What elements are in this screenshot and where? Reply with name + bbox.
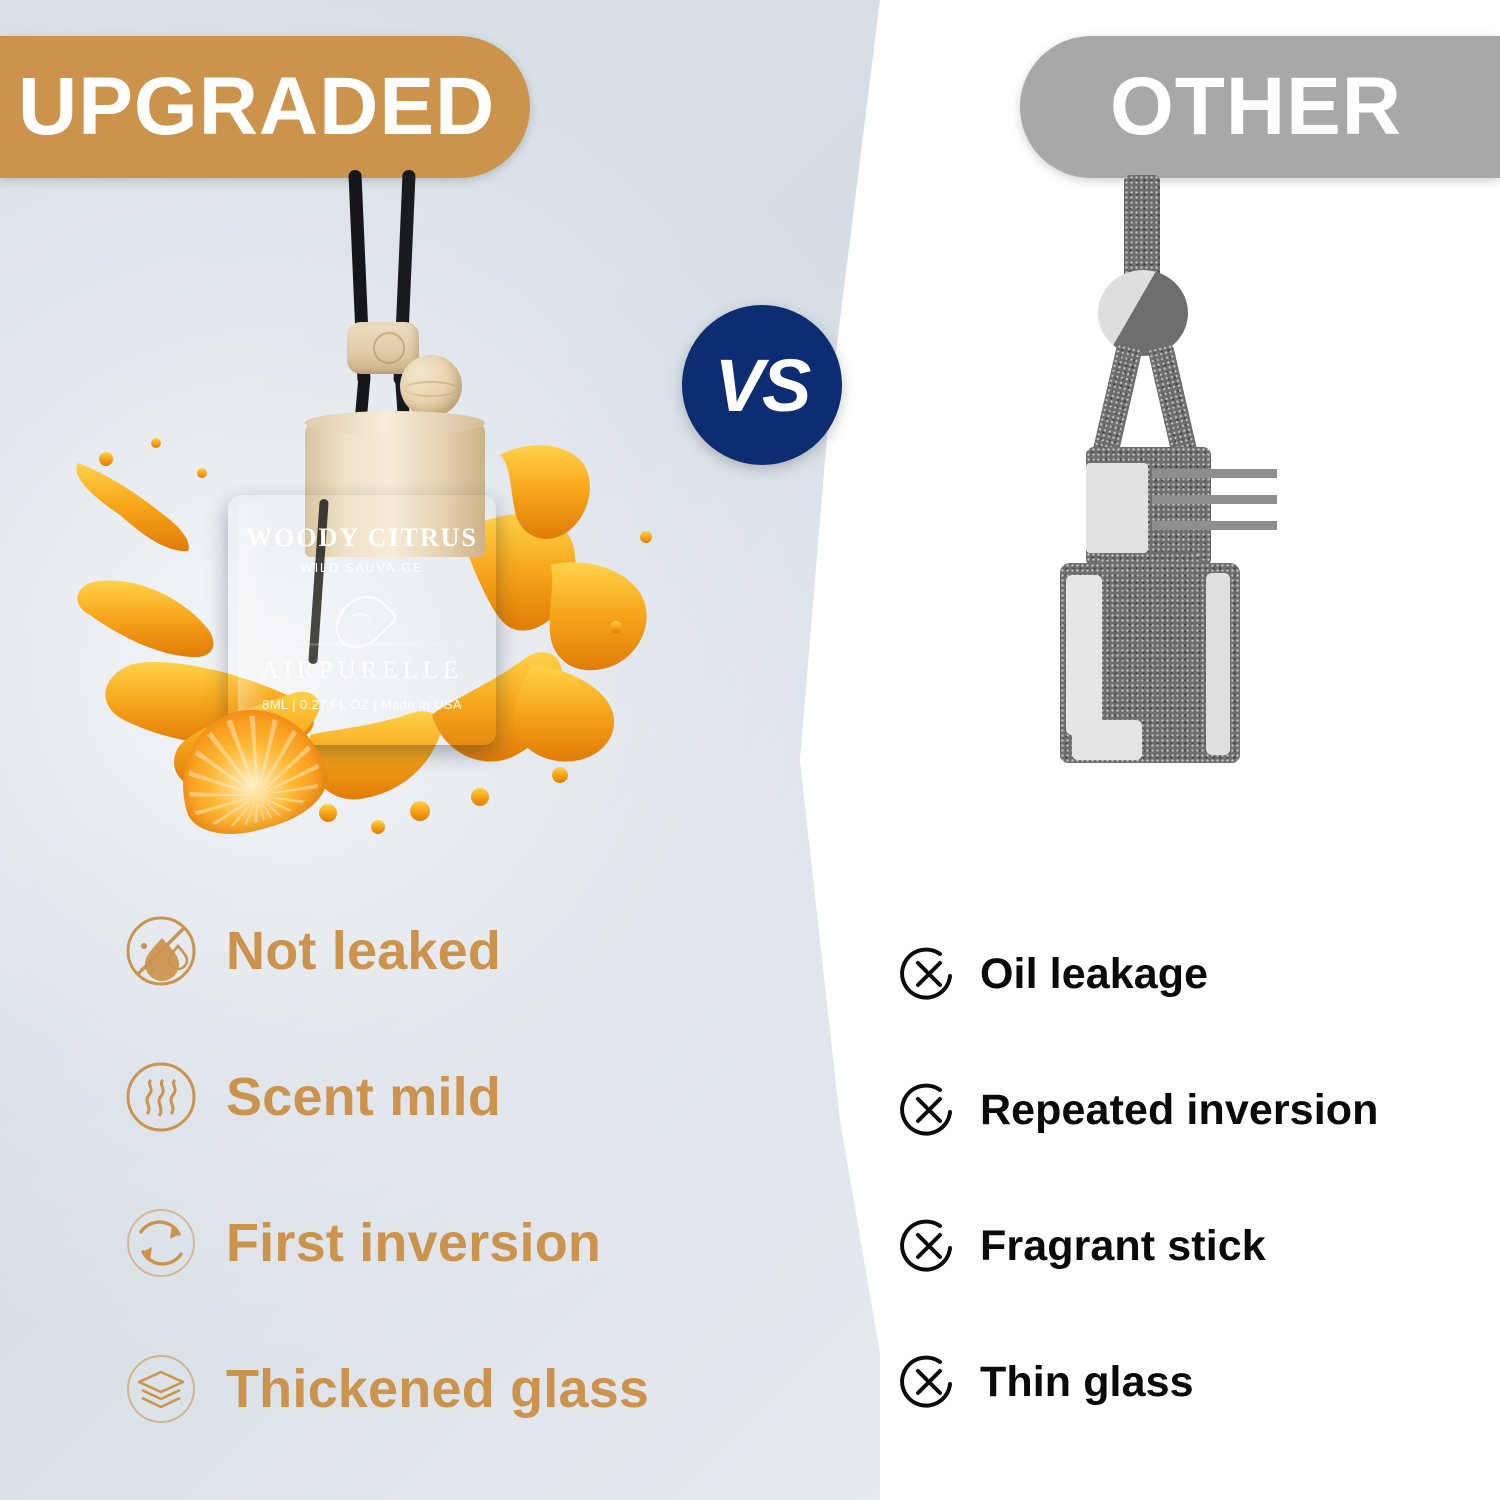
gray-body-highlight-base bbox=[1072, 720, 1142, 760]
vs-badge: VS bbox=[682, 305, 842, 465]
feature-item-scent-mild: Scent mild bbox=[122, 1058, 762, 1136]
other-badge: OTHER bbox=[1020, 36, 1500, 178]
feature-label: Thin glass bbox=[980, 1358, 1194, 1407]
vs-label: VS bbox=[715, 343, 810, 428]
comparison-infographic: UPGRADED OTHER VS bbox=[0, 0, 1500, 1500]
label-meta: 8ML | 0.27 FL OZ | Made in USA bbox=[228, 697, 496, 712]
cap-ridge-1 bbox=[1152, 469, 1277, 478]
gray-body-highlight-left bbox=[1066, 575, 1102, 735]
feature-label: First inversion bbox=[226, 1212, 601, 1274]
gray-hanging-cord-icon bbox=[1124, 175, 1160, 285]
feature-item-oil-leakage: Oil leakage bbox=[900, 945, 1460, 1003]
feature-label: Scent mild bbox=[226, 1066, 501, 1128]
other-feature-list: Oil leakage Repeated inversion Fragrant … bbox=[900, 945, 1460, 1411]
upgraded-badge: UPGRADED bbox=[0, 36, 530, 178]
feature-item-not-leaked: Not leaked bbox=[122, 912, 762, 990]
gray-cord-arm-left-icon bbox=[1091, 344, 1142, 462]
circled-x-icon bbox=[900, 1217, 958, 1275]
brand-name: AIRPURELLE bbox=[228, 657, 496, 685]
other-badge-label: OTHER bbox=[1110, 60, 1402, 154]
feature-label: Fragrant stick bbox=[980, 1222, 1266, 1271]
feature-item-thin-glass: Thin glass bbox=[900, 1353, 1460, 1411]
cap-ridge-3 bbox=[1152, 521, 1277, 530]
label-title: WOODY CITRUS bbox=[228, 523, 496, 553]
competitor-product-image bbox=[1020, 175, 1320, 825]
feature-label: Thickened glass bbox=[226, 1358, 649, 1420]
bottle-label: WOODY CITRUS WILD SAUVA.GE AIRPURELLE 8M… bbox=[228, 523, 496, 712]
feature-item-thickened-glass: Thickened glass bbox=[122, 1350, 762, 1428]
gray-cap-highlight bbox=[1086, 463, 1148, 553]
feature-item-repeated-inversion: Repeated inversion bbox=[900, 1081, 1460, 1139]
stacked-layers-icon bbox=[122, 1350, 200, 1428]
circled-x-icon bbox=[900, 1353, 958, 1411]
droplet-logo-icon bbox=[325, 585, 399, 659]
circular-arrows-icon bbox=[122, 1204, 200, 1282]
gray-bead-icon bbox=[1098, 270, 1188, 356]
feature-label: Not leaked bbox=[226, 920, 501, 982]
label-subtitle: WILD SAUVA.GE bbox=[228, 560, 496, 575]
gray-body-highlight-right bbox=[1206, 573, 1230, 755]
upgraded-product-image: WOODY CITRUS WILD SAUVA.GE AIRPURELLE 8M… bbox=[60, 170, 680, 900]
wood-ball-icon bbox=[400, 355, 462, 417]
upgraded-badge-label: UPGRADED bbox=[18, 60, 495, 154]
feature-label: Oil leakage bbox=[980, 950, 1208, 999]
feature-item-first-inversion: First inversion bbox=[122, 1204, 762, 1282]
feature-item-fragrant-stick: Fragrant stick bbox=[900, 1217, 1460, 1275]
gray-cord-arm-right-icon bbox=[1147, 344, 1198, 462]
upgraded-feature-list: Not leaked Scent mild bbox=[122, 912, 762, 1428]
no-leak-droplet-icon bbox=[122, 912, 200, 990]
circled-x-icon bbox=[900, 1081, 958, 1139]
feature-label: Repeated inversion bbox=[980, 1086, 1378, 1135]
cap-ridge-2 bbox=[1152, 495, 1277, 504]
scent-waves-icon bbox=[122, 1058, 200, 1136]
product-bottle: WOODY CITRUS WILD SAUVA.GE AIRPURELLE 8M… bbox=[228, 495, 496, 745]
circled-x-icon bbox=[900, 945, 958, 1003]
